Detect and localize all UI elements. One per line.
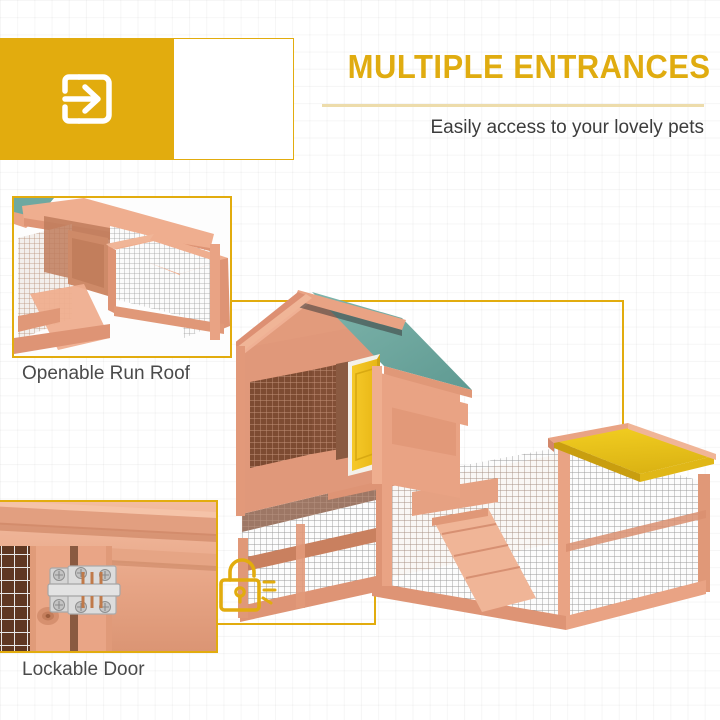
open-padlock-icon bbox=[214, 552, 280, 618]
page-title: MULTIPLE ENTRANCES bbox=[348, 48, 703, 86]
callout-panel-lockable-door[interactable] bbox=[0, 500, 218, 653]
login-enter-arrow-icon bbox=[55, 67, 119, 131]
title-divider bbox=[322, 104, 704, 107]
infographic-canvas: MULTIPLE ENTRANCES Easily access to your… bbox=[0, 0, 720, 720]
header-badge-blank bbox=[174, 38, 294, 160]
header-icon-badge bbox=[0, 38, 174, 160]
lockable-door-caption: Lockable Door bbox=[22, 659, 145, 681]
lockable-door-detail-image bbox=[0, 502, 216, 651]
product-image-rabbit-hutch bbox=[236, 286, 720, 658]
callout-panel-run-roof[interactable] bbox=[12, 196, 232, 358]
page-subtitle: Easily access to your lovely pets bbox=[300, 114, 704, 142]
run-roof-detail-image bbox=[14, 198, 230, 356]
run-roof-caption: Openable Run Roof bbox=[22, 363, 190, 385]
